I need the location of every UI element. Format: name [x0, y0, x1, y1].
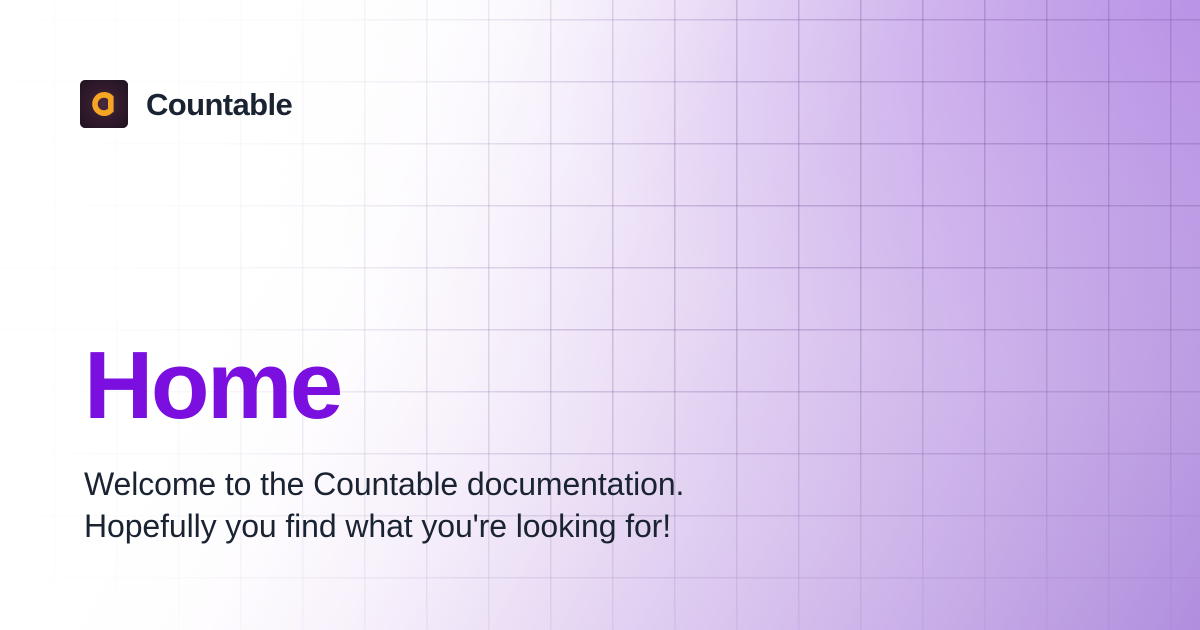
page-subtitle-line-2: Hopefully you find what you're looking f… — [84, 505, 984, 547]
og-card: Countable Home Welcome to the Countable … — [0, 0, 1200, 630]
content-block: Home Welcome to the Countable documentat… — [84, 336, 1120, 547]
countable-c-logo-icon — [80, 80, 128, 128]
page-title: Home — [84, 336, 1120, 436]
page-subtitle: Welcome to the Countable documentation. … — [84, 463, 984, 547]
brand-lockup: Countable — [80, 80, 292, 128]
page-subtitle-line-1: Welcome to the Countable documentation. — [84, 463, 984, 505]
brand-name: Countable — [146, 89, 292, 120]
